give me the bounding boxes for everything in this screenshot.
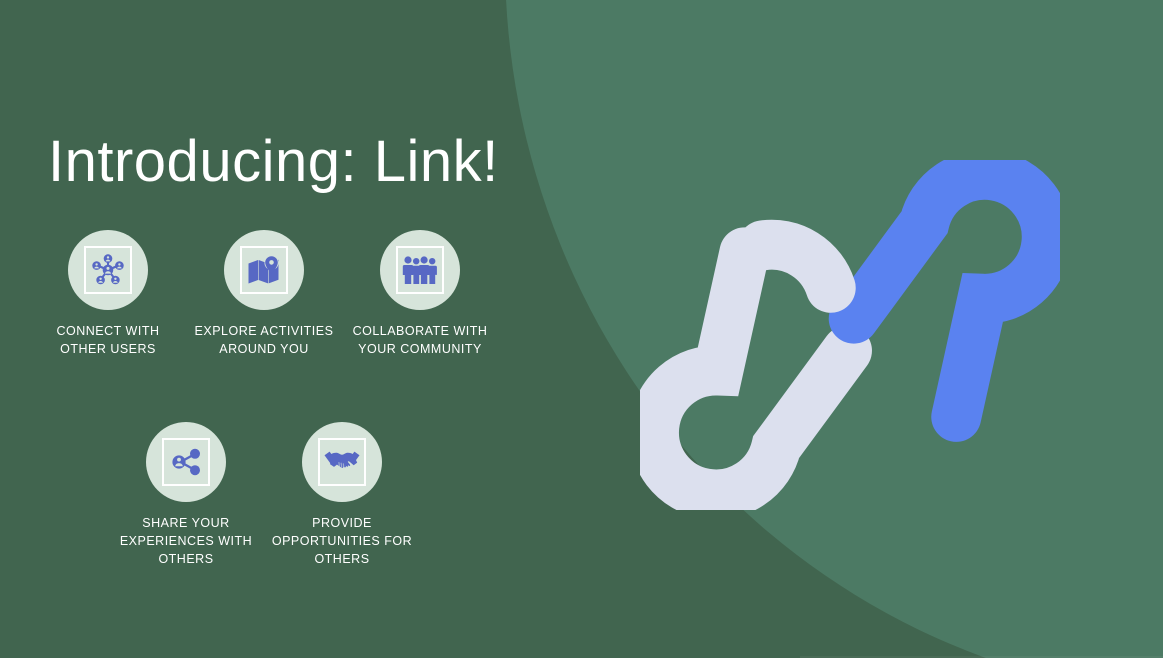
feature-item-collaborate: COLLABORATE WITH YOUR COMMUNITY — [342, 230, 498, 359]
icon-frame — [84, 246, 132, 294]
feature-caption: PROVIDE OPPORTUNITIES FOR OTHERS — [264, 515, 420, 568]
caption-line: EXPERIENCES WITH — [108, 533, 264, 551]
feature-badge — [224, 230, 304, 310]
caption-line: OTHER USERS — [30, 341, 186, 359]
handshake-icon — [324, 449, 360, 475]
feature-caption: CONNECT WITH OTHER USERS — [30, 323, 186, 359]
presentation-slide: Introducing: Link! — [0, 0, 1163, 658]
caption-line: OTHERS — [108, 551, 264, 569]
caption-line: YOUR COMMUNITY — [342, 341, 498, 359]
caption-line: OTHERS — [264, 551, 420, 569]
caption-line: COLLABORATE WITH — [342, 323, 498, 341]
caption-line: CONNECT WITH — [30, 323, 186, 341]
feature-caption: COLLABORATE WITH YOUR COMMUNITY — [342, 323, 498, 359]
caption-line: SHARE YOUR — [108, 515, 264, 533]
icon-frame — [240, 246, 288, 294]
share-nodes-icon — [170, 447, 202, 477]
chain-link-illustration — [640, 160, 1060, 510]
icon-frame — [162, 438, 210, 486]
people-group-icon — [402, 255, 438, 285]
feature-item-connect: CONNECT WITH OTHER USERS — [30, 230, 186, 359]
feature-item-share: SHARE YOUR EXPERIENCES WITH OTHERS — [108, 422, 264, 568]
caption-line: EXPLORE ACTIVITIES — [186, 323, 342, 341]
feature-caption: SHARE YOUR EXPERIENCES WITH OTHERS — [108, 515, 264, 568]
feature-badge — [302, 422, 382, 502]
caption-line: OPPORTUNITIES FOR — [264, 533, 420, 551]
feature-item-provide: PROVIDE OPPORTUNITIES FOR OTHERS — [264, 422, 420, 568]
map-pin-icon — [247, 255, 281, 285]
icon-frame — [396, 246, 444, 294]
feature-badge — [380, 230, 460, 310]
icon-frame — [318, 438, 366, 486]
page-title: Introducing: Link! — [48, 132, 499, 193]
caption-line: AROUND YOU — [186, 341, 342, 359]
feature-item-explore: EXPLORE ACTIVITIES AROUND YOU — [186, 230, 342, 359]
feature-badge — [146, 422, 226, 502]
feature-caption: EXPLORE ACTIVITIES AROUND YOU — [186, 323, 342, 359]
caption-line: PROVIDE — [264, 515, 420, 533]
chain-link-upper — [835, 160, 1060, 419]
network-users-icon — [91, 253, 125, 287]
feature-badge — [68, 230, 148, 310]
chain-link-weave — [763, 228, 836, 301]
